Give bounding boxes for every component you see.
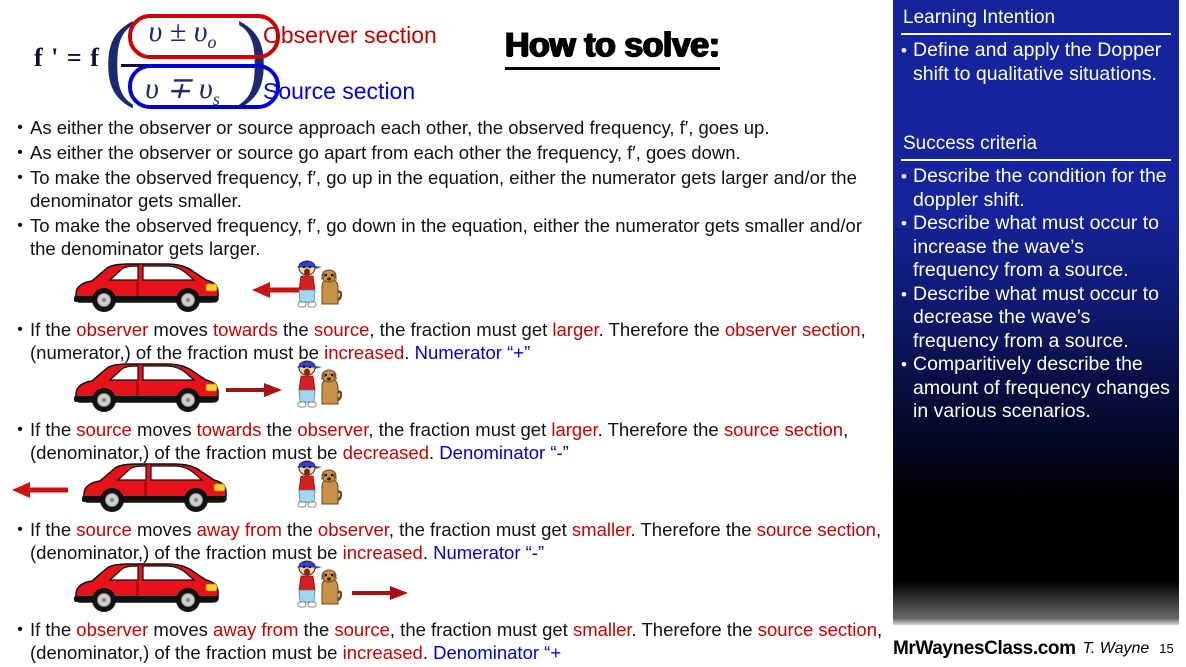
- scenario-source-toward-observer: • If the source moves towards the observ…: [0, 358, 890, 464]
- scenario-source-away-from-observer: • If the source moves away from the obse…: [0, 458, 890, 564]
- success-criteria-item-text: Comparitively describe the amount of fre…: [913, 353, 1171, 424]
- learning-intention-heading: Learning Intention: [901, 6, 1171, 30]
- text-run: larger: [551, 419, 597, 440]
- scenario-illustration: [0, 258, 890, 318]
- bullet-glyph: •: [10, 214, 30, 260]
- bullet-glyph: •: [901, 39, 913, 86]
- rules-bullet-list: •As either the observer or source approa…: [10, 116, 882, 262]
- learning-intention-item: •Define and apply the Dopper shift to qu…: [901, 39, 1171, 86]
- success-criteria-item: •Describe the condition for the doppler …: [901, 165, 1171, 212]
- source-highlight-box: [128, 64, 280, 109]
- page-title: How to solve:: [505, 26, 720, 70]
- divider: [901, 33, 1171, 35]
- learning-intention-list: •Define and apply the Dopper shift to qu…: [901, 39, 1171, 86]
- text-run: larger: [552, 319, 598, 340]
- boy-and-dog-icon: [292, 458, 342, 512]
- success-criteria-item: •Comparitively describe the amount of fr…: [901, 353, 1171, 424]
- text-run: If the: [30, 319, 76, 340]
- red-car-icon: [70, 560, 222, 612]
- scenario-illustration: [0, 558, 890, 618]
- text-run: . Therefore the: [632, 619, 758, 640]
- scenario-observer-away-from-source: • If the observer moves away from the so…: [0, 558, 890, 664]
- bullet-glyph: •: [10, 618, 30, 664]
- text-run: . Therefore the: [598, 419, 724, 440]
- learning-intention-item-text: Define and apply the Dopper shift to qua…: [913, 39, 1171, 86]
- text-run: Denominator “+: [433, 642, 561, 663]
- main-content: f ' = f ( ) υ ± υo υ ∓ υs Observer secti…: [0, 0, 890, 667]
- bullet-glyph: •: [10, 141, 30, 164]
- text-run: towards: [197, 419, 262, 440]
- text-run: source section: [758, 619, 877, 640]
- footer-author: T. Wayne: [1083, 640, 1150, 658]
- text-run: . Therefore the: [599, 319, 725, 340]
- text-run: source: [76, 419, 132, 440]
- boy-and-dog-icon: [292, 558, 342, 612]
- bullet-glyph: •: [10, 116, 30, 139]
- text-run: moves: [132, 519, 197, 540]
- text-run: towards: [213, 319, 278, 340]
- rule-bullet-text: As either the observer or source go apar…: [30, 141, 882, 164]
- source-section-label: Source section: [263, 78, 415, 105]
- text-run: If the: [30, 619, 76, 640]
- text-run: If the: [30, 519, 76, 540]
- text-run: observer section: [725, 319, 861, 340]
- rule-bullet-item: •As either the observer or source go apa…: [10, 141, 882, 164]
- text-run: smaller: [572, 519, 631, 540]
- footer: MrWaynesClass.com T. Wayne 15: [893, 630, 1183, 667]
- scenario-body: If the observer moves away from the sour…: [30, 618, 890, 664]
- red-car-icon: [70, 260, 222, 312]
- text-run: observer: [76, 619, 148, 640]
- scenario-text: • If the observer moves away from the so…: [0, 618, 890, 664]
- text-run: away from: [197, 519, 282, 540]
- text-run: . Therefore the: [631, 519, 757, 540]
- rule-bullet-text: As either the observer or source approac…: [30, 116, 882, 139]
- text-run: source section: [724, 419, 843, 440]
- rule-bullet-item: •To make the observed frequency, f′, go …: [10, 166, 882, 212]
- rule-bullet-text: To make the observed frequency, f′, go d…: [30, 214, 882, 260]
- text-run: observer: [297, 419, 368, 440]
- scenario-illustration: [0, 458, 890, 518]
- text-run: , the fraction must get: [389, 519, 572, 540]
- text-run: source: [76, 519, 132, 540]
- text-run: , the fraction must get: [390, 619, 573, 640]
- rule-bullet-item: •As either the observer or source approa…: [10, 116, 882, 139]
- text-run: moves: [148, 319, 213, 340]
- text-run: source section: [757, 519, 876, 540]
- spacer: [901, 86, 1171, 132]
- text-run: , the fraction must get: [368, 419, 551, 440]
- bullet-glyph: •: [10, 166, 30, 212]
- text-run: source: [334, 619, 390, 640]
- red-car-icon: [78, 460, 230, 512]
- bullet-glyph: •: [901, 212, 913, 283]
- success-criteria-item-text: Describe what must occur to increase the…: [913, 212, 1171, 283]
- text-run: away from: [213, 619, 298, 640]
- text-run: observer: [76, 319, 148, 340]
- doppler-formula: f ' = f ( ) υ ± υo υ ∓ υs: [30, 6, 280, 111]
- boy-and-dog-icon: [292, 258, 342, 312]
- success-criteria-item: •Describe what must occur to decrease th…: [901, 283, 1171, 354]
- slide-canvas: f ' = f ( ) υ ± υo υ ∓ υs Observer secti…: [0, 0, 1186, 667]
- left-arrow-icon: [10, 480, 72, 500]
- bullet-glyph: •: [901, 283, 913, 354]
- red-car-icon: [70, 360, 222, 412]
- observer-section-label: Observer section: [263, 22, 437, 49]
- text-run: observer: [318, 519, 389, 540]
- text-run: increased: [343, 642, 423, 663]
- objectives-panel: Learning Intention •Define and apply the…: [893, 0, 1179, 625]
- observer-highlight-box: [128, 14, 280, 59]
- footer-site-name[interactable]: MrWaynesClass.com: [893, 638, 1076, 660]
- success-criteria-item: •Describe what must occur to increase th…: [901, 212, 1171, 283]
- success-criteria-item-text: Describe the condition for the doppler s…: [913, 165, 1171, 212]
- success-criteria-heading: Success criteria: [901, 132, 1171, 156]
- text-run: the: [282, 519, 318, 540]
- text-run: moves: [148, 619, 213, 640]
- formula-lhs: f ' = f: [34, 43, 100, 73]
- text-run: moves: [132, 419, 197, 440]
- footer-page-number: 15: [1159, 641, 1173, 656]
- text-run: .: [423, 642, 433, 663]
- text-run: , the fraction must get: [369, 319, 552, 340]
- boy-and-dog-icon: [292, 358, 342, 412]
- bullet-glyph: •: [901, 353, 913, 424]
- text-run: If the: [30, 419, 76, 440]
- right-arrow-icon: [348, 583, 410, 603]
- right-arrow-icon: [222, 380, 284, 400]
- text-run: the: [261, 419, 297, 440]
- bullet-glyph: •: [901, 165, 913, 212]
- rule-bullet-text: To make the observed frequency, f′, go u…: [30, 166, 882, 212]
- text-run: source: [314, 319, 370, 340]
- divider: [901, 159, 1171, 161]
- rule-bullet-item: •To make the observed frequency, f′, go …: [10, 214, 882, 260]
- text-run: the: [278, 319, 314, 340]
- scenario-illustration: [0, 358, 890, 418]
- success-criteria-list: •Describe the condition for the doppler …: [901, 165, 1171, 424]
- text-run: smaller: [573, 619, 632, 640]
- success-criteria-item-text: Describe what must occur to decrease the…: [913, 283, 1171, 354]
- scenario-observer-toward-source: • If the observer moves towards the sour…: [0, 258, 890, 364]
- text-run: the: [298, 619, 334, 640]
